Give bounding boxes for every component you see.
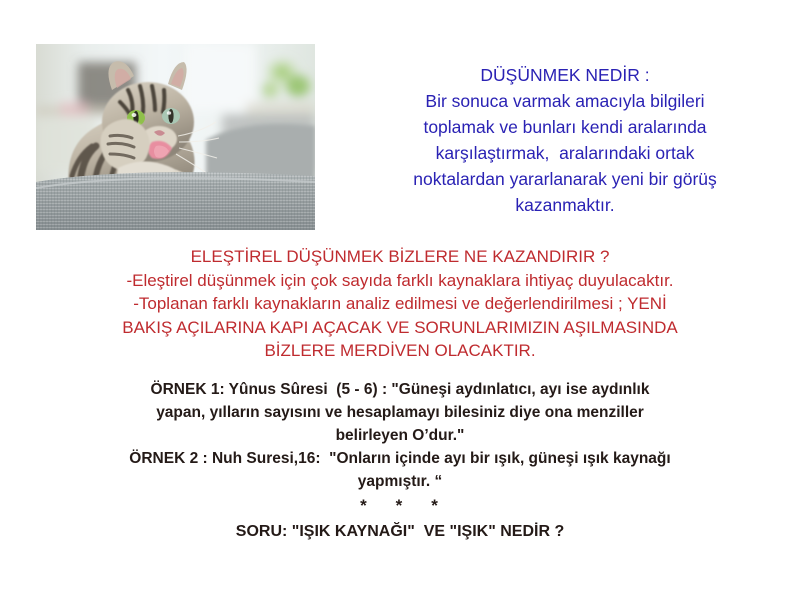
definition-text: DÜŞÜNMEK NEDİR : Bir sonuca varmak amacı… xyxy=(330,62,800,218)
definition-line-1: DÜŞÜNMEK NEDİR : xyxy=(330,62,800,88)
benefits-text: ELEŞTİREL DÜŞÜNMEK BİZLERE NE KAZANDIRIR… xyxy=(10,245,790,363)
example-2-line-1: ÖRNEK 2 : Nuh Suresi,16: "Onların içinde… xyxy=(10,447,790,470)
couch-arm xyxy=(36,172,315,230)
cat-photo xyxy=(36,44,315,230)
benefits-line-3: BAKIŞ AÇILARINA KAPI AÇACAK VE SORUNLARI… xyxy=(10,316,790,340)
examples-text: ÖRNEK 1: Yûnus Sûresi (5 - 6) : "Güneşi … xyxy=(10,378,790,546)
example-1-line-3: belirleyen O’dur." xyxy=(10,424,790,447)
definition-line-5: noktalardan yararlanarak yeni bir görüş xyxy=(330,166,800,192)
example-1-line-1: ÖRNEK 1: Yûnus Sûresi (5 - 6) : "Güneşi … xyxy=(10,378,790,401)
example-2-line-2: yapmıştır. “ xyxy=(10,470,790,493)
question-line: SORU: "IŞIK KAYNAĞI" VE "IŞIK" NEDİR ? xyxy=(10,518,790,546)
benefits-line-1: -Eleştirel düşünmek için çok sayıda fark… xyxy=(10,269,790,293)
benefits-line-4: BİZLERE MERDİVEN OLACAKTIR. xyxy=(10,339,790,363)
example-1-line-2: yapan, yılların sayısını ve hesaplamayı … xyxy=(10,401,790,424)
benefits-line-2: -Toplanan farklı kaynakların analiz edil… xyxy=(10,292,790,316)
benefits-heading: ELEŞTİREL DÜŞÜNMEK BİZLERE NE KAZANDIRIR… xyxy=(10,245,790,269)
definition-line-3: toplamak ve bunları kendi aralarında xyxy=(330,114,800,140)
definition-line-6: kazanmaktır. xyxy=(330,192,800,218)
definition-line-4: karşılaştırmak, aralarındaki ortak xyxy=(330,140,800,166)
cat-photo-illustration xyxy=(36,44,315,230)
definition-line-2: Bir sonuca varmak amacıyla bilgileri xyxy=(330,88,800,114)
slide-canvas: DÜŞÜNMEK NEDİR : Bir sonuca varmak amacı… xyxy=(0,0,800,600)
section-separator: * * * xyxy=(10,493,790,518)
